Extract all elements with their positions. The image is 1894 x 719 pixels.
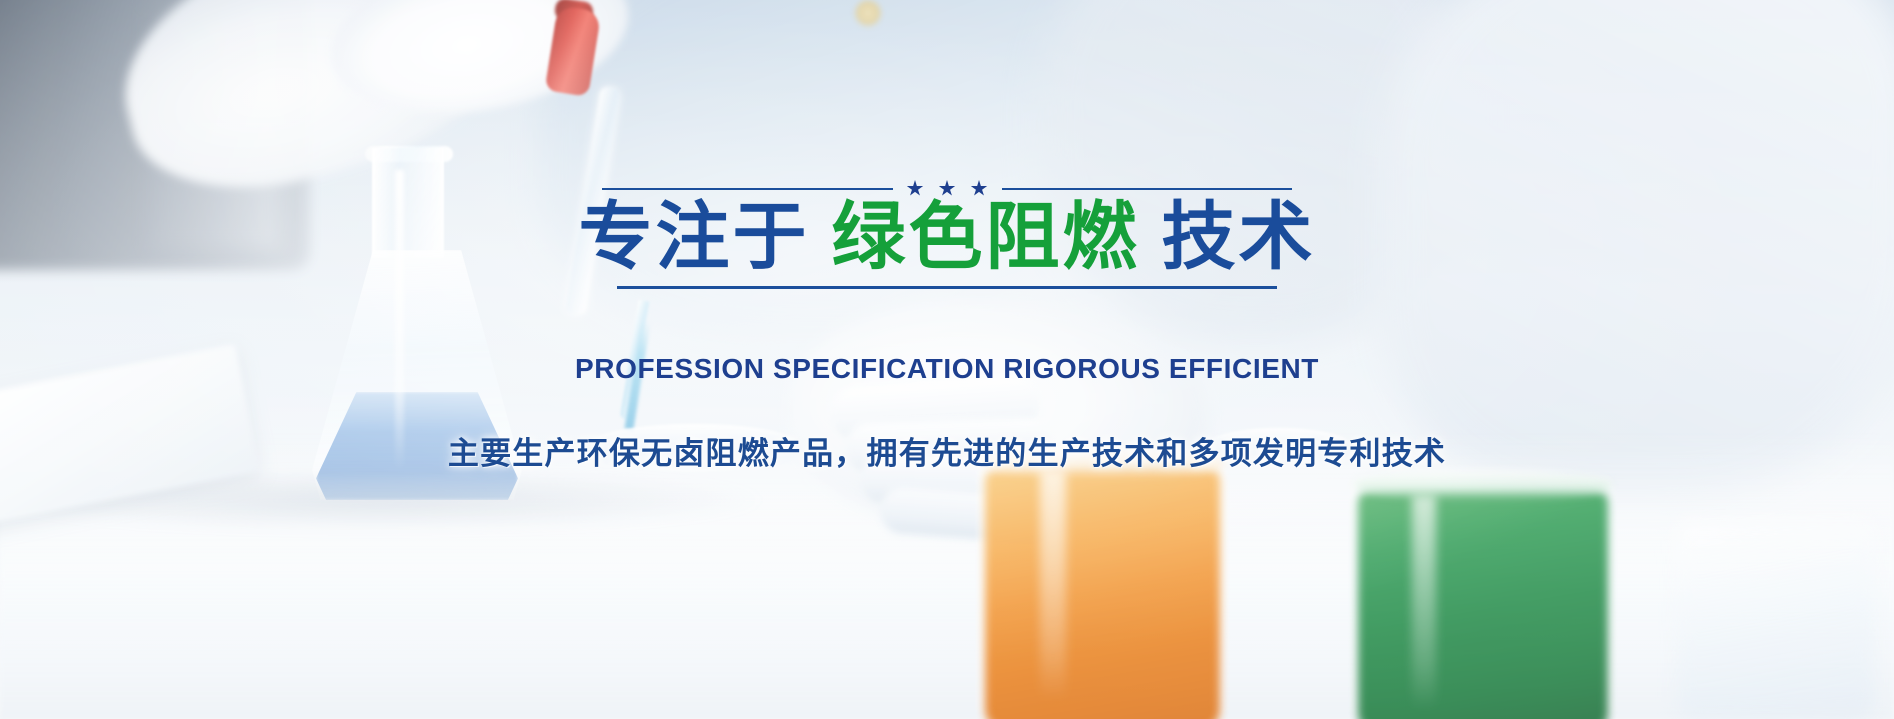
headline-part-1: 专注于 bbox=[579, 194, 810, 280]
subtitle-english: PROFESSION SPECIFICATION RIGOROUS EFFICI… bbox=[575, 353, 1319, 385]
subtitle-chinese: 主要生产环保无卤阻燃产品，拥有先进的生产技术和多项发明专利技术 bbox=[448, 428, 1446, 473]
headline-part-2: 绿色阻燃 bbox=[832, 194, 1140, 280]
banner-content: 专注于绿色阻燃技术 PROFESSION SPECIFICATION RIGOR… bbox=[0, 0, 1894, 719]
page-title: 专注于绿色阻燃技术 bbox=[579, 196, 1316, 279]
decorative-rule-left bbox=[602, 188, 893, 190]
hero-banner: 专注于绿色阻燃技术 PROFESSION SPECIFICATION RIGOR… bbox=[0, 0, 1894, 719]
headline-part-3: 技术 bbox=[1162, 194, 1316, 280]
decorative-rule-right bbox=[1002, 188, 1293, 190]
headline-underline bbox=[617, 286, 1277, 289]
